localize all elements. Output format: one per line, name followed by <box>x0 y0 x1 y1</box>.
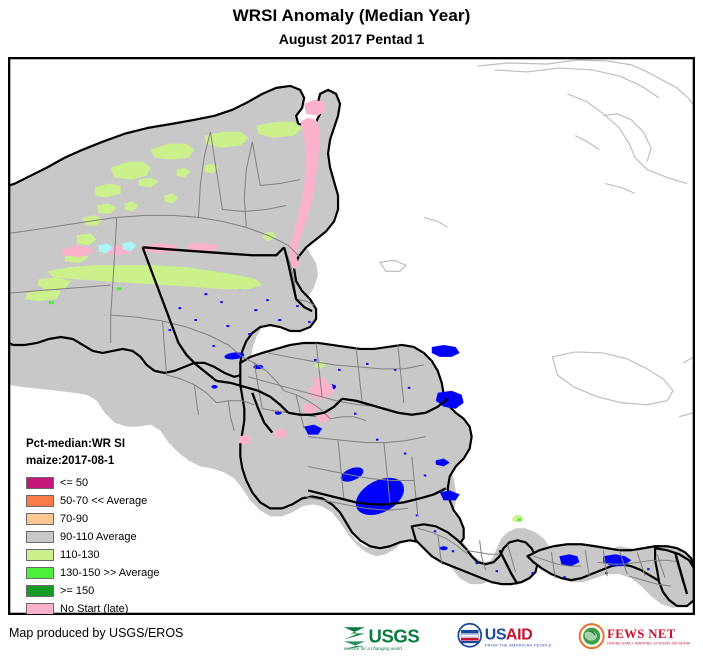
legend-row: 110-130 <box>26 546 226 564</box>
legend-row: 50-70 << Average <box>26 492 226 510</box>
legend-swatch <box>26 567 54 579</box>
svg-text:FAMINE EARLY WARNING SYSTEMS N: FAMINE EARLY WARNING SYSTEMS NETWORK <box>607 642 691 646</box>
usaid-seal <box>458 624 481 647</box>
map-canvas[interactable]: Pct-median:WR SI maize:2017-08-1 <= 5050… <box>8 57 695 615</box>
svg-text:AID: AID <box>506 627 533 644</box>
svg-text:USGS: USGS <box>369 625 420 646</box>
legend-title-line2: maize:2017-08-1 <box>26 453 226 470</box>
legend-label: >= 150 <box>60 585 94 597</box>
page-title: WRSI Anomaly (Median Year) <box>0 6 703 26</box>
legend-swatch <box>26 585 54 597</box>
legend-row: >= 150 <box>26 582 226 600</box>
svg-text:science for a changing world: science for a changing world <box>344 646 402 651</box>
legend-swatch <box>26 603 54 615</box>
map-credit: Map produced by USGS/EROS <box>9 626 183 640</box>
usaid-logo: US AID FROM THE AMERICAN PEOPLE <box>455 622 571 652</box>
legend-swatch <box>26 549 54 561</box>
legend-swatch <box>26 513 54 525</box>
svg-text:FROM THE AMERICAN PEOPLE: FROM THE AMERICAN PEOPLE <box>485 643 552 648</box>
fewsnet-logo: FEWS NET FAMINE EARLY WARNING SYSTEMS NE… <box>578 622 696 652</box>
legend-label: 50-70 << Average <box>60 495 147 507</box>
legend-row: 130-150 >> Average <box>26 564 226 582</box>
legend-title-line1: Pct-median:WR SI <box>26 436 226 453</box>
legend-label: 130-150 >> Average <box>60 567 160 579</box>
logo-strip: USGS science for a changing world US AID… <box>342 622 696 652</box>
page-subtitle: August 2017 Pentad 1 <box>0 31 703 48</box>
legend-row: 90-110 Average <box>26 528 226 546</box>
legend-swatch <box>26 477 54 489</box>
svg-text:FEWS NET: FEWS NET <box>607 627 676 641</box>
legend-label: No Start (late) <box>60 603 128 615</box>
fewsnet-globe-icon <box>580 624 604 648</box>
legend-row: <= 50 <box>26 474 226 492</box>
usgs-logo: USGS science for a changing world <box>342 622 448 652</box>
legend-label: <= 50 <box>60 477 88 489</box>
map-legend: Pct-median:WR SI maize:2017-08-1 <= 5050… <box>26 436 226 615</box>
legend-row: No Start (late) <box>26 600 226 615</box>
legend-row: 70-90 <box>26 510 226 528</box>
legend-swatch <box>26 531 54 543</box>
svg-text:US: US <box>485 627 507 644</box>
legend-swatch <box>26 495 54 507</box>
legend-label: 90-110 Average <box>60 531 137 543</box>
legend-items: <= 5050-70 << Average70-9090-110 Average… <box>26 474 226 615</box>
title-block: WRSI Anomaly (Median Year) August 2017 P… <box>0 0 703 48</box>
legend-label: 70-90 <box>60 513 88 525</box>
legend-label: 110-130 <box>60 549 100 561</box>
